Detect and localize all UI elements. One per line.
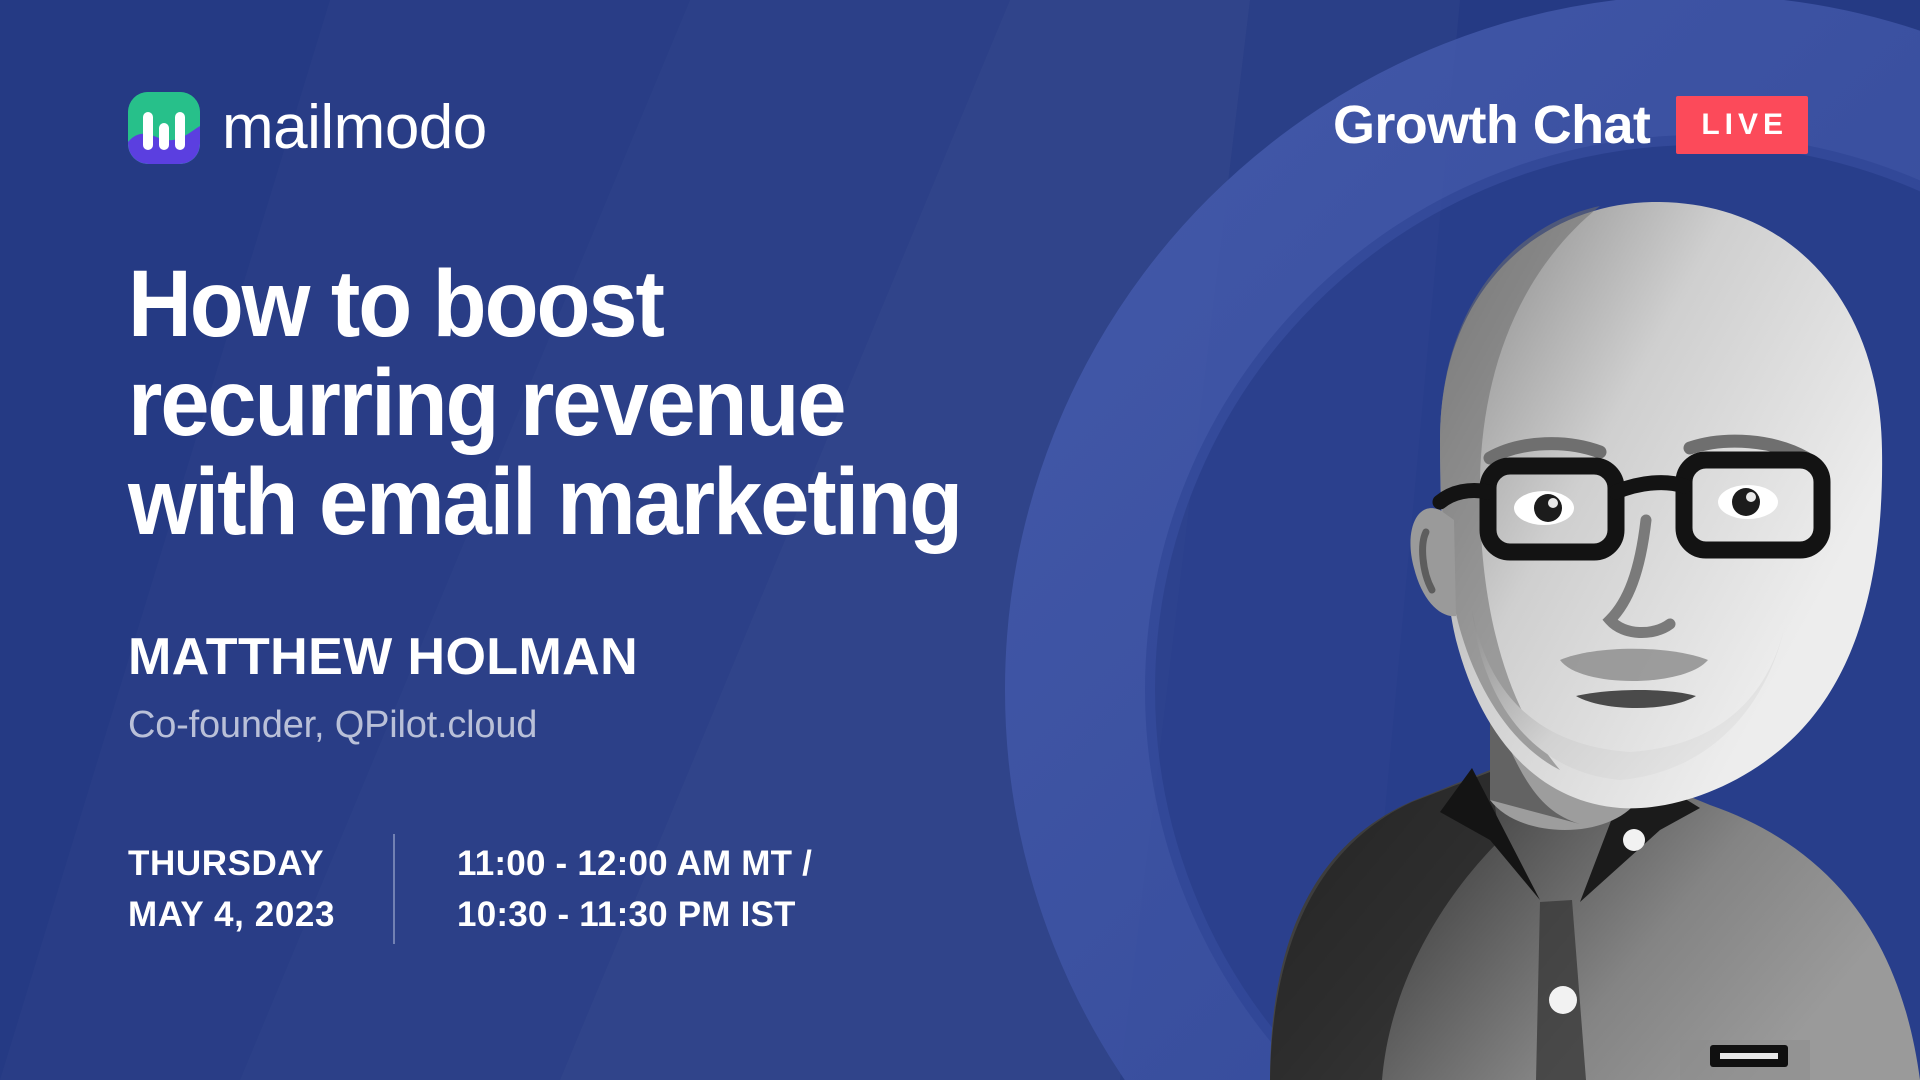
schedule-divider — [393, 834, 395, 944]
shirt — [1270, 768, 1920, 1080]
headline-line-2: recurring revenue — [128, 354, 1067, 453]
mustache — [1560, 649, 1708, 681]
speaker-portrait — [1020, 140, 1920, 1080]
schedule-date: MAY 4, 2023 — [128, 889, 335, 941]
neck — [1490, 680, 1638, 830]
headline-line-1: How to boost — [128, 255, 1067, 354]
brand-wordmark: mailmodo — [222, 97, 487, 159]
eye-right-iris — [1732, 488, 1760, 516]
shirt-shadow — [1270, 772, 1500, 1080]
shirt-brand-tag — [1710, 1045, 1788, 1067]
live-badge: LIVE — [1676, 96, 1808, 154]
glasses-icon — [1440, 460, 1822, 552]
speaker-role: Co-founder, QPilot.cloud — [128, 705, 1138, 747]
eyebrow-right — [1690, 441, 1806, 458]
ear-detail — [1423, 532, 1432, 590]
facet-shape-4 — [1120, 0, 1460, 1080]
decorative-ring — [1080, 70, 1920, 1080]
logo-glyph — [128, 92, 200, 164]
schedule-day: THURSDAY — [128, 838, 335, 890]
collar-left — [1440, 768, 1540, 900]
eyebrow-left — [1490, 444, 1600, 458]
brand-lockup[interactable]: mailmodo — [128, 92, 487, 164]
shirt-placket — [1536, 900, 1586, 1080]
shirt-brand-tag-text — [1720, 1053, 1778, 1059]
eye-left-white — [1514, 491, 1574, 525]
ear — [1410, 508, 1456, 616]
shirt-button-mid — [1549, 986, 1577, 1014]
schedule-time-column: 11:00 - 12:00 AM MT / 10:30 - 11:30 PM I… — [395, 834, 812, 944]
schedule-time-primary: 11:00 - 12:00 AM MT / — [457, 838, 812, 890]
decorative-ring-inner — [1145, 135, 1920, 1080]
beard — [1472, 610, 1788, 780]
collar-right — [1580, 766, 1700, 902]
speaker-name: MATTHEW HOLMAN — [128, 629, 1138, 686]
eye-right-highlight — [1746, 492, 1756, 502]
nose — [1610, 520, 1670, 633]
neck-shadow — [1490, 700, 1580, 824]
show-tag: Growth Chat LIVE — [1333, 96, 1808, 154]
schedule-block: THURSDAY MAY 4, 2023 11:00 - 12:00 AM MT… — [128, 834, 1138, 944]
headline-line-3: with email marketing — [128, 453, 1067, 552]
speaker-block: MATTHEW HOLMAN Co-founder, QPilot.cloud — [128, 629, 1138, 746]
shirt-pocket — [1680, 1040, 1810, 1080]
speaker-portrait-illustration — [1020, 140, 1920, 1080]
show-name: Growth Chat — [1333, 98, 1650, 152]
schedule-date-column: THURSDAY MAY 4, 2023 — [128, 834, 393, 944]
head — [1440, 202, 1882, 808]
mailmodo-logo-icon — [128, 92, 200, 164]
page-title: How to boost recurring revenue with emai… — [128, 255, 1067, 551]
eye-right-white — [1718, 485, 1778, 519]
eye-left-highlight — [1548, 498, 1558, 508]
shirt-button-top — [1623, 829, 1645, 851]
schedule-time-secondary: 10:30 - 11:30 PM IST — [457, 889, 812, 941]
mouth — [1576, 690, 1696, 708]
webinar-promo-banner: mailmodo Growth Chat LIVE How to boost r… — [0, 0, 1920, 1080]
eye-left-iris — [1534, 494, 1562, 522]
head-shadow — [1440, 206, 1600, 770]
main-content: How to boost recurring revenue with emai… — [128, 255, 1138, 944]
